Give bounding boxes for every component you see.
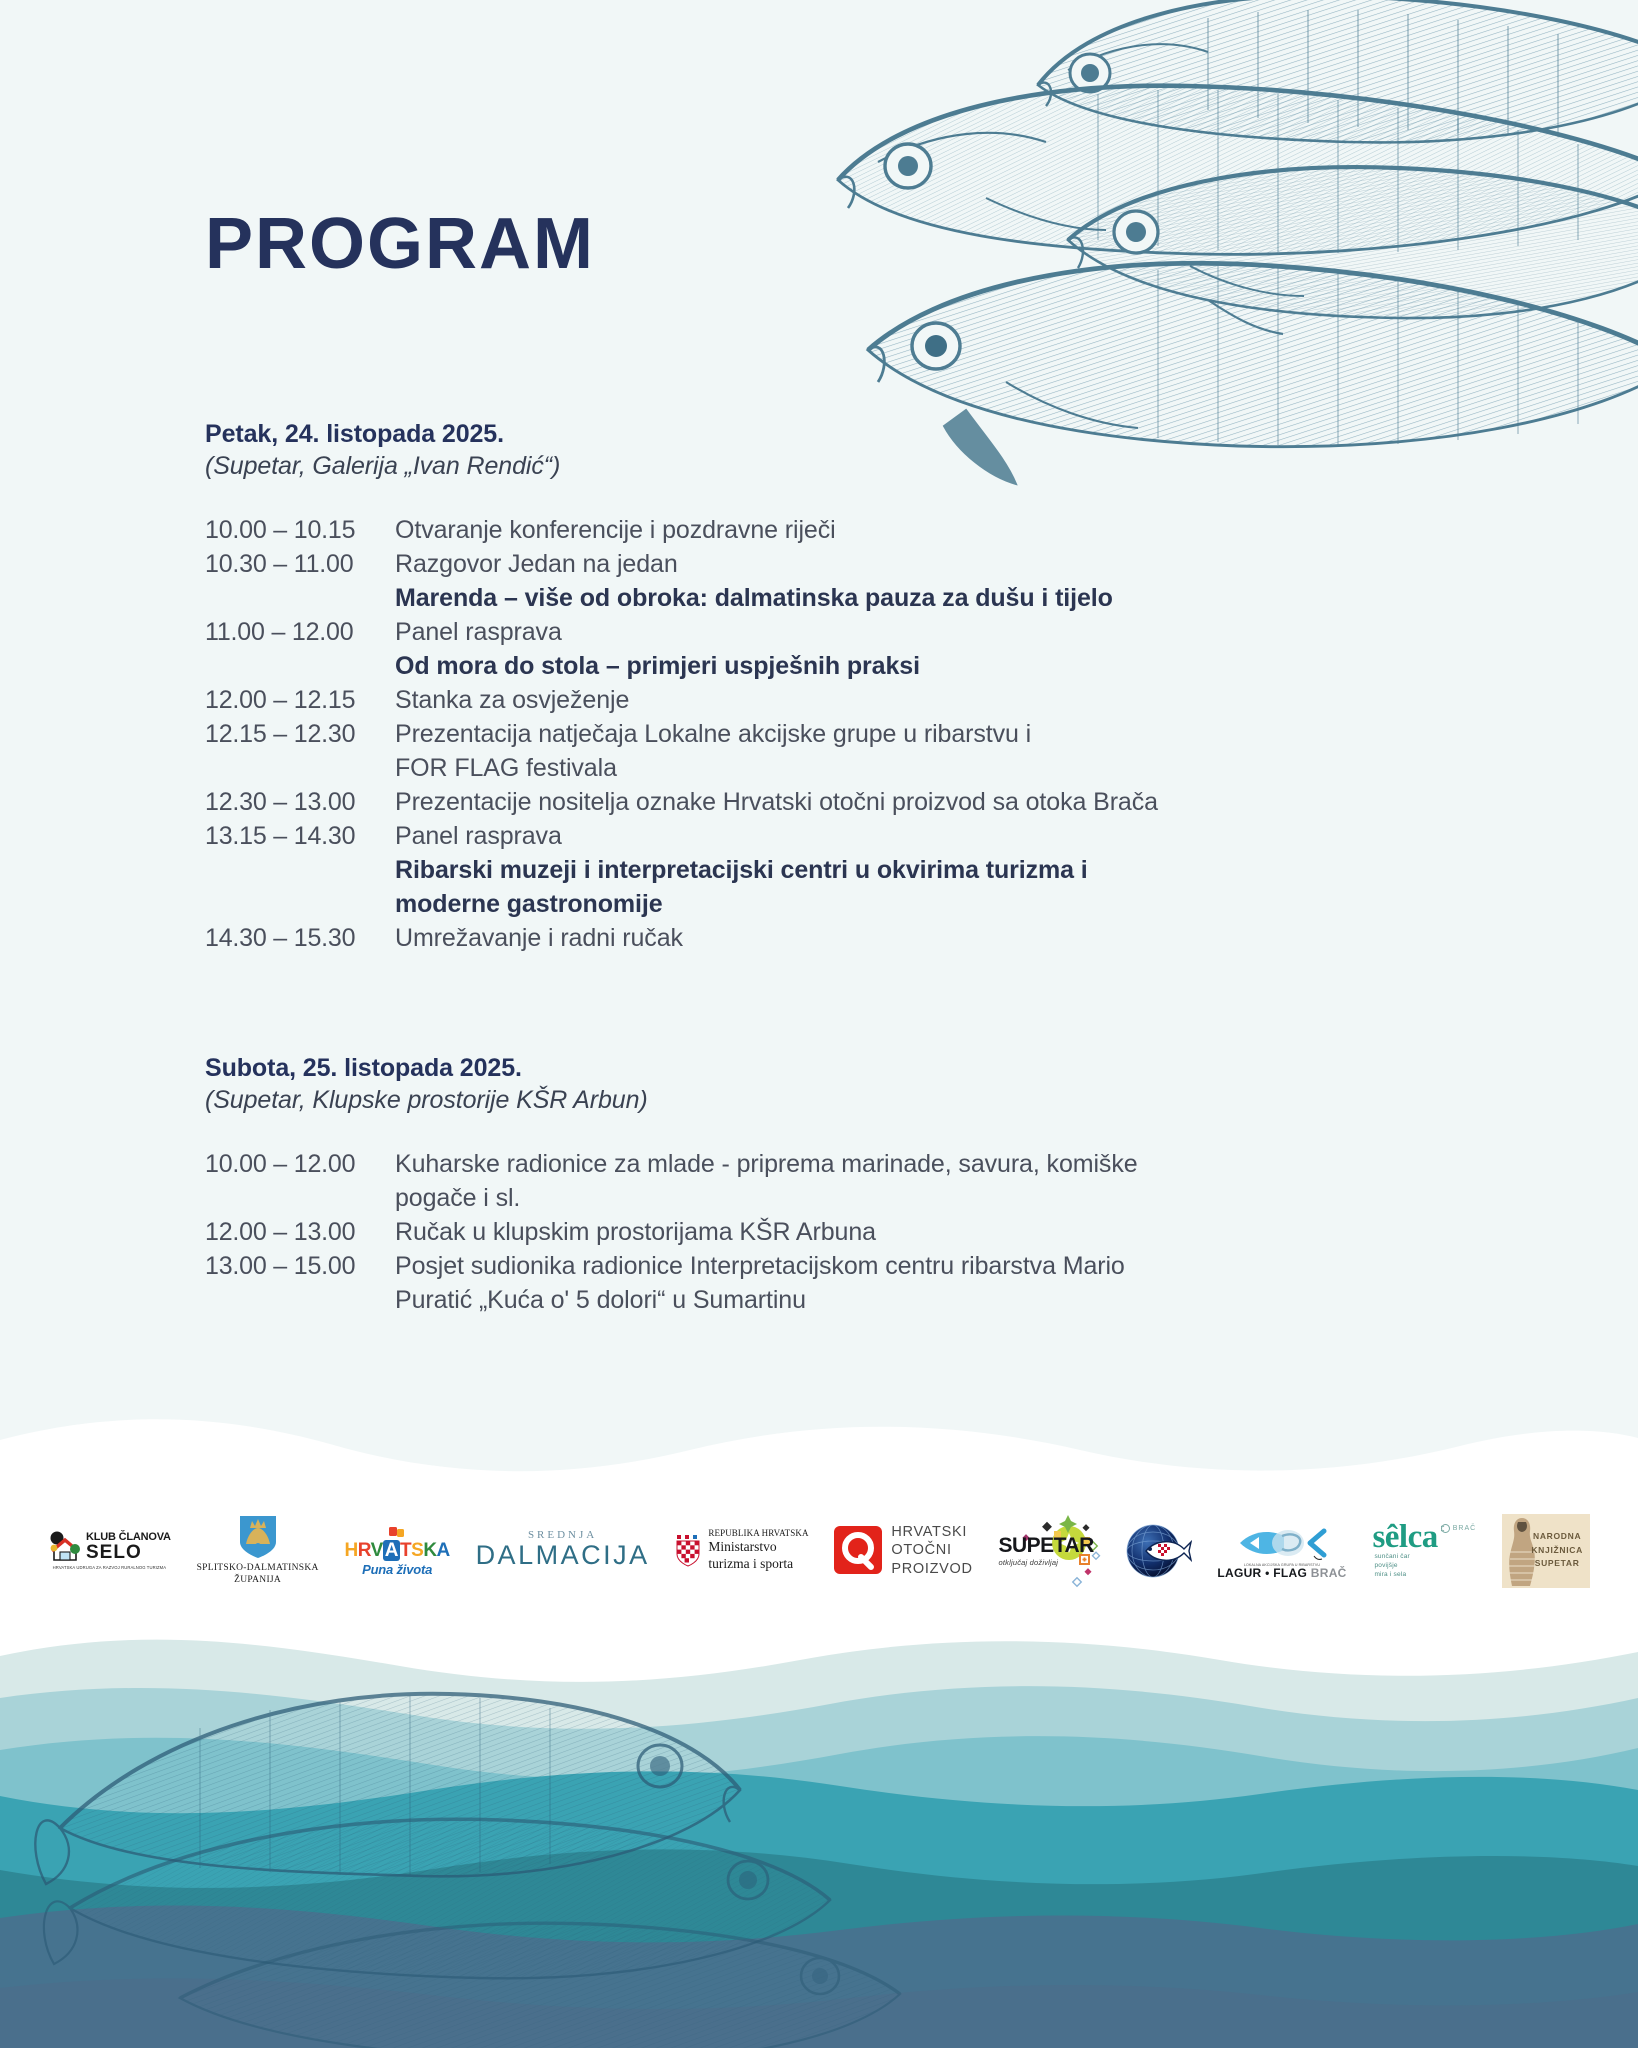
- selca-brac-logo: sêlca BRAČ sunčani čar povijšje mira i s…: [1372, 1505, 1476, 1597]
- hrvatski-otocni-proizvod-logo: HRVATSKI OTOČNI PROIZVOD: [834, 1505, 972, 1597]
- selca-sub2: povijšje: [1374, 1562, 1409, 1571]
- zupanija-caption: SPLITSKO-DALMATINSKA ŽUPANIJA: [197, 1563, 319, 1587]
- schedule-desc: FOR FLAG festivala: [395, 751, 617, 785]
- schedule-desc: Od mora do stola – primjeri uspješnih pr…: [395, 649, 920, 683]
- schedule-desc: pogače i sl.: [395, 1181, 520, 1215]
- schedule-row: moderne gastronomije: [205, 887, 1425, 921]
- schedule-row: 12.15 – 12.30 Prezentacija natječaja Lok…: [205, 717, 1425, 751]
- knjiznica-caption: NARODNA KNJIŽNICA SUPETAR: [1531, 1530, 1583, 1571]
- schedule-desc: Umrežavanje i radni ručak: [395, 921, 683, 955]
- hop-line2: OTOČNI: [891, 1541, 972, 1560]
- ministarstvo-line1: REPUBLIKA HRVATSKA: [708, 1528, 808, 1539]
- day-venue-friday: (Supetar, Galerija „Ivan Rendić“): [205, 450, 1425, 483]
- selo-subtitle: HRVATSKA UDRUGA ZA RAZVOJ RURALNOG TURIZ…: [53, 1566, 166, 1571]
- sponsor-logo-strip: KLUB ČLANOVA SELO HRVATSKA UDRUGA ZA RAZ…: [0, 1498, 1638, 1603]
- schedule-row: pogače i sl.: [205, 1181, 1425, 1215]
- schedule-row: 12.00 – 13.00 Ručak u klupskim prostorij…: [205, 1215, 1425, 1249]
- schedule-row: Puratić „Kuća o' 5 dolori“ u Sumartinu: [205, 1283, 1425, 1317]
- croatian-coat-of-arms-icon: [675, 1534, 701, 1568]
- schedule-row: 14.30 – 15.30 Umrežavanje i radni ručak: [205, 921, 1425, 955]
- hop-line3: PROIZVOD: [891, 1560, 972, 1579]
- schedule-time: 10.30 – 11.00: [205, 547, 395, 581]
- dalmacija-line2: DALMACIJA: [476, 1541, 650, 1571]
- selca-wordmark: sêlca: [1372, 1522, 1437, 1553]
- ministarstvo-line3: turizma i sporta: [708, 1556, 808, 1573]
- selca-sub3: mira i sela: [1374, 1571, 1409, 1580]
- schedule-row: 13.00 – 15.00 Posjet sudionika radionice…: [205, 1249, 1425, 1283]
- narodna-knjiznica-supetar-logo: NARODNA KNJIŽNICA SUPETAR: [1502, 1505, 1590, 1597]
- sardines-underwater-engraving-icon: [0, 1398, 1638, 2048]
- ministarstvo-turizma-i-sporta-logo: REPUBLIKA HRVATSKA Ministarstvo turizma …: [675, 1505, 808, 1597]
- knjiznica-plate: NARODNA KNJIŽNICA SUPETAR: [1502, 1514, 1590, 1588]
- supetar-tagline: otključaj doživljaj: [998, 1558, 1093, 1567]
- selca-brac-label: BRAČ: [1453, 1525, 1476, 1532]
- schedule-row: 12.30 – 13.00 Prezentacije nositelja ozn…: [205, 785, 1425, 819]
- schedule-row: 11.00 – 12.00 Panel rasprava: [205, 615, 1425, 649]
- schedule-row: Od mora do stola – primjeri uspješnih pr…: [205, 649, 1425, 683]
- schedule-row: FOR FLAG festivala: [205, 751, 1425, 785]
- knjiznica-line1: NARODNA: [1531, 1530, 1583, 1544]
- fish-globe-emblem-logo: [1120, 1505, 1192, 1597]
- selca-sub1: sunčani čar: [1374, 1553, 1409, 1562]
- schedule-desc: Panel rasprava: [395, 819, 562, 853]
- zupanija-line1: SPLITSKO-DALMATINSKA: [197, 1563, 319, 1573]
- schedule-time: 11.00 – 12.00: [205, 615, 395, 649]
- schedule-desc: Stanka za osvježenje: [395, 683, 629, 717]
- ministarstvo-line2: Ministarstvo: [708, 1539, 808, 1556]
- schedule-time: 13.00 – 15.00: [205, 1249, 395, 1283]
- day-title-friday: Petak, 24. listopada 2025.: [205, 418, 1425, 450]
- day-section-saturday: Subota, 25. listopada 2025. (Supetar, Kl…: [205, 1052, 1425, 1317]
- schedule-row: Marenda – više od obroka: dalmatinska pa…: [205, 581, 1425, 615]
- schedule-time: 12.30 – 13.00: [205, 785, 395, 819]
- hrvatska-wordmark: HRVATSKA: [344, 1541, 449, 1560]
- schedule-row: 10.30 – 11.00 Razgovor Jedan na jedan: [205, 547, 1425, 581]
- schedule-desc: Puratić „Kuća o' 5 dolori“ u Sumartinu: [395, 1283, 806, 1317]
- schedule-desc: Ručak u klupskim prostorijama KŠR Arbuna: [395, 1215, 876, 1249]
- selca-tagline: sunčani čar povijšje mira i sela: [1374, 1553, 1409, 1579]
- schedule-time: 14.30 – 15.30: [205, 921, 395, 955]
- hop-q-mark-icon: [834, 1526, 882, 1574]
- poster-canvas: PROGRAM Petak, 24. listopada 2025. (Supe…: [0, 0, 1638, 2048]
- schedule-desc: Panel rasprava: [395, 615, 562, 649]
- schedule-desc: Ribarski muzeji i interpretacijski centr…: [395, 853, 1088, 887]
- schedule-rows-friday: 10.00 – 10.15 Otvaranje konferencije i p…: [205, 513, 1425, 955]
- schedule-rows-saturday: 10.00 – 12.00 Kuharske radionice za mlad…: [205, 1147, 1425, 1317]
- schedule-desc: Otvaranje konferencije i pozdravne riječ…: [395, 513, 836, 547]
- splitsko-dalmatinska-zupanija-logo: SPLITSKO-DALMATINSKA ŽUPANIJA: [197, 1505, 319, 1597]
- schedule-time: 10.00 – 12.00: [205, 1147, 395, 1181]
- lagur-flag-fish-icon: [1236, 1522, 1328, 1564]
- lagur-flag-brac-logo: LOKALNA AKCIJSKA GRUPA U RIBARSTVU LAGUR…: [1217, 1505, 1346, 1597]
- fish-globe-icon: [1120, 1515, 1192, 1587]
- knjiznica-line2: KNJIŽNICA: [1531, 1544, 1583, 1558]
- klub-clanova-selo-logo: KLUB ČLANOVA SELO HRVATSKA UDRUGA ZA RAZ…: [48, 1505, 171, 1597]
- schedule-row: 13.15 – 14.30 Panel rasprava: [205, 819, 1425, 853]
- lagur-line2: BRAČ: [1311, 1566, 1347, 1580]
- knjiznica-line3: SUPETAR: [1531, 1557, 1583, 1571]
- schedule-time: 10.00 – 10.15: [205, 513, 395, 547]
- schedule-desc: Prezentacija natječaja Lokalne akcijske …: [395, 717, 1031, 751]
- srednja-dalmacija-logo: SREDNJA DALMACIJA: [476, 1505, 650, 1597]
- schedule-row: 10.00 – 12.00 Kuharske radionice za mlad…: [205, 1147, 1425, 1181]
- schedule-desc: Prezentacije nositelja oznake Hrvatski o…: [395, 785, 1158, 819]
- poster-footer: KLUB ČLANOVA SELO HRVATSKA UDRUGA ZA RAZ…: [0, 1398, 1638, 2048]
- schedule-desc: Marenda – više od obroka: dalmatinska pa…: [395, 581, 1113, 615]
- hop-line1: HRVATSKI: [891, 1523, 972, 1542]
- page-title: PROGRAM: [205, 208, 595, 280]
- hrvatska-puna-zivota-logo: HRVATSKA Puna života: [344, 1505, 449, 1597]
- zupanija-coat-of-arms-icon: [238, 1514, 278, 1560]
- schedule-row: 12.00 – 12.15 Stanka za osvježenje: [205, 683, 1425, 717]
- schedule-time: 13.15 – 14.30: [205, 819, 395, 853]
- lagur-line1: LAGUR • FLAG: [1217, 1566, 1307, 1580]
- zupanija-line2: ŽUPANIJA: [234, 1575, 281, 1585]
- hrvatska-tagline: Puna života: [362, 1562, 432, 1577]
- schedule-desc: Razgovor Jedan na jedan: [395, 547, 678, 581]
- day-title-saturday: Subota, 25. listopada 2025.: [205, 1052, 1425, 1084]
- day-section-friday: Petak, 24. listopada 2025. (Supetar, Gal…: [205, 418, 1425, 955]
- schedule-row: 10.00 – 10.15 Otvaranje konferencije i p…: [205, 513, 1425, 547]
- schedule-time: 12.00 – 13.00: [205, 1215, 395, 1249]
- selo-house-icon: [48, 1530, 82, 1564]
- schedule-row: Ribarski muzeji i interpretacijski centr…: [205, 853, 1425, 887]
- lagur-wordmark: LAGUR • FLAG BRAČ: [1217, 1567, 1346, 1579]
- schedule-desc: moderne gastronomije: [395, 887, 663, 921]
- supetar-wordmark: SUPETAR: [998, 1535, 1093, 1556]
- schedule-time: 12.00 – 12.15: [205, 683, 395, 717]
- schedule-desc: Kuharske radionice za mlade - priprema m…: [395, 1147, 1138, 1181]
- schedule-time: 12.15 – 12.30: [205, 717, 395, 751]
- supetar-logo: SUPETAR otključaj doživljaj: [998, 1505, 1093, 1597]
- schedule-desc: Posjet sudionika radionice Interpretacij…: [395, 1249, 1125, 1283]
- day-venue-saturday: (Supetar, Klupske prostorije KŠR Arbun): [205, 1084, 1425, 1117]
- selca-emblem-icon: [1441, 1524, 1450, 1533]
- selo-line2: SELO: [86, 1543, 171, 1562]
